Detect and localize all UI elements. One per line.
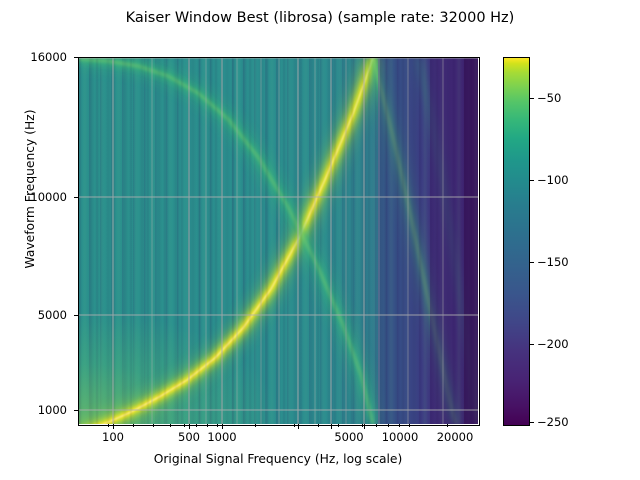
y-tick-label: 1000 [0,403,67,417]
colorbar-tick [529,98,534,99]
x-tick-label: 5000 [334,430,363,444]
x-minor-tick [376,424,377,427]
spectrogram-image [78,57,478,424]
x-major-tick [189,424,190,429]
colorbar-tick [529,180,534,181]
figure-canvas: Kaiser Window Best (librosa) (sample rat… [0,0,640,480]
colorbar [503,57,530,426]
y-major-tick [74,57,79,58]
colorbar-tick [529,344,534,345]
x-minor-tick [399,424,400,427]
colorbar-tick-label: −100 [537,173,569,187]
x-minor-tick [133,424,134,427]
y-major-tick [74,315,79,316]
colorbar-tick-label: −50 [537,91,561,105]
x-axis-title: Original Signal Frequency (Hz, log scale… [0,452,556,466]
spectral-striping-layer [78,57,478,424]
x-minor-tick [362,424,363,427]
x-minor-tick [255,424,256,427]
x-minor-tick [388,424,389,427]
colorbar-tick [529,422,534,423]
y-axis-title: Waveform Frequency (Hz) [23,0,37,379]
x-tick-label: 100 [102,430,124,444]
colorbar-tick-label: −250 [537,415,569,429]
y-major-tick [74,197,79,198]
x-minor-tick [338,424,339,427]
colorbar-tick-label: −200 [537,337,569,351]
x-minor-tick [207,424,208,427]
x-tick-label: 500 [178,430,200,444]
x-minor-tick [153,424,154,427]
colorbar-tick [529,262,534,263]
x-tick-label: 20000 [437,430,474,444]
x-major-tick [113,424,114,429]
x-major-tick [364,424,365,429]
x-tick-label: 10000 [382,430,419,444]
x-minor-tick [217,424,218,427]
x-minor-tick [184,424,185,427]
y-major-tick [74,410,79,411]
x-major-tick [298,424,299,429]
x-minor-tick [108,424,109,427]
x-minor-tick [170,424,171,427]
x-tick-label: 1000 [207,430,236,444]
x-major-tick [331,424,332,429]
x-minor-tick [196,424,197,427]
colorbar-tick-label: −150 [537,255,569,269]
x-minor-tick [318,424,319,427]
figure-title: Kaiser Window Best (librosa) (sample rat… [0,10,640,26]
x-minor-tick [409,424,410,427]
x-minor-tick [447,424,448,427]
x-major-tick [222,424,223,429]
x-minor-tick [294,424,295,427]
